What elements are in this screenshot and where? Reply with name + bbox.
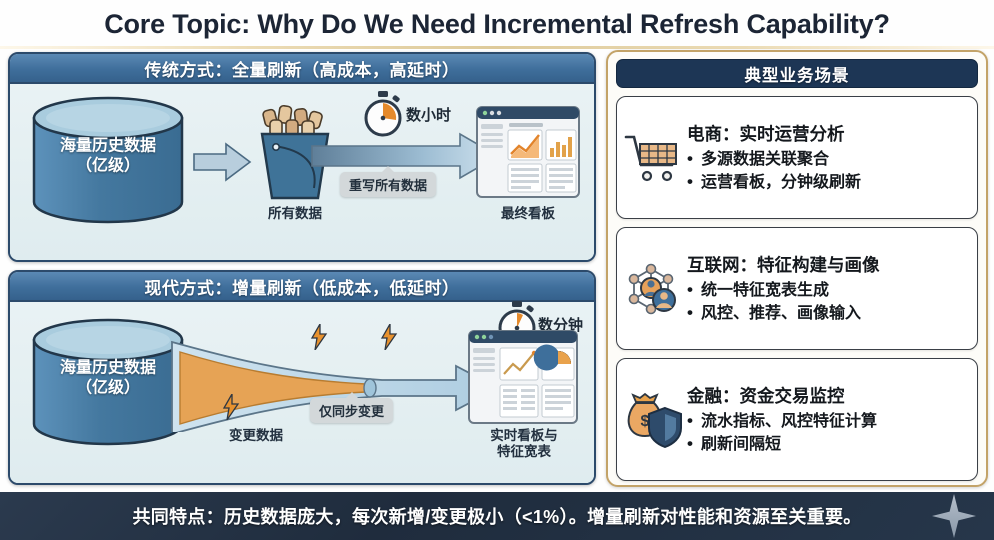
bullet-marker-icon: •: [687, 281, 701, 298]
scene-bullet: • 多源数据关联聚合: [687, 148, 969, 171]
bullet-marker-icon: •: [687, 173, 701, 190]
bucket-caption: 所有数据: [242, 206, 348, 222]
page-title: Core Topic: Why Do We Need Incremental R…: [0, 2, 994, 46]
scene-bullet-text: 风控、推荐、画像输入: [701, 302, 861, 325]
panel-modern-header: 现代方式：增量刷新（低成本，低延时）: [10, 272, 594, 302]
panel-traditional-body: 海量历史数据 （亿级）: [10, 84, 594, 260]
scene-title: 电商：实时运营分析: [687, 121, 969, 146]
scene-bullet-text: 刷新间隔短: [701, 433, 781, 456]
scene-bullet: • 风控、推荐、画像输入: [687, 302, 969, 325]
lightning-bolt-icon: [222, 394, 240, 420]
scene-bullet-text: 多源数据关联聚合: [701, 148, 829, 171]
panel-traditional-header: 传统方式：全量刷新（高成本，高延时）: [10, 54, 594, 84]
network-user-icon: [621, 257, 685, 321]
bullet-marker-icon: •: [687, 435, 701, 452]
bottom-summary-banner: 共同特点：历史数据庞大，每次新增/变更极小（<1%）。增量刷新对性能和资源至关重…: [0, 492, 994, 540]
panel-traditional-approach: 传统方式：全量刷新（高成本，高延时） 海量历史数据 （亿级）: [8, 52, 596, 262]
scene-text-internet: 互联网：特征构建与画像 • 统一特征宽表生成 • 风控、推荐、画像输入: [685, 252, 969, 325]
dashboard-window-icon: [476, 106, 580, 203]
modern-flow-pill: 仅同步变更: [310, 398, 393, 423]
scene-card-internet[interactable]: 互联网：特征构建与画像 • 统一特征宽表生成 • 风控、推荐、画像输入: [616, 227, 978, 350]
scene-text-finance: 金融：资金交易监控 • 流水指标、风控特征计算 • 刷新间隔短: [685, 383, 969, 456]
lightning-bolt-icon: [380, 324, 398, 350]
scene-title: 互联网：特征构建与画像: [687, 252, 969, 277]
title-divider: [0, 46, 994, 49]
bullet-marker-icon: •: [687, 304, 701, 321]
traditional-flow-pill: 重写所有数据: [340, 172, 436, 197]
modern-funnel-caption: 变更数据: [206, 428, 306, 444]
database-cylinder-icon: 海量历史数据 （亿级）: [28, 318, 188, 446]
sidebar-business-scenarios: 典型业务场景 电商：实时运营分析 • 多源: [606, 50, 988, 487]
bullet-marker-icon: •: [687, 150, 701, 167]
right-arrow-icon: [192, 142, 252, 182]
scene-bullet: • 刷新间隔短: [687, 433, 969, 456]
shopping-cart-icon: [621, 126, 685, 190]
scene-card-ecommerce[interactable]: 电商：实时运营分析 • 多源数据关联聚合 • 运营看板，分钟级刷新: [616, 96, 978, 219]
banner-text: 共同特点：历史数据庞大，每次新增/变更极小（<1%）。增量刷新对性能和资源至关重…: [132, 503, 861, 529]
bullet-marker-icon: •: [687, 412, 701, 429]
scene-bullet: • 统一特征宽表生成: [687, 279, 969, 302]
scene-bullet: • 流水指标、风控特征计算: [687, 410, 969, 433]
scene-card-finance[interactable]: $ 金融：资金交易监控 • 流水指标、风控特征计算 • 刷新间隔短: [616, 358, 978, 481]
database-cylinder-icon: 海量历史数据 （亿级）: [28, 96, 188, 224]
sparkle-icon: [932, 494, 976, 538]
lightning-bolt-icon: [310, 324, 328, 350]
traditional-clock-label: 数小时: [406, 104, 451, 125]
traditional-dashboard-caption: 最终看板: [468, 206, 588, 222]
money-bag-shield-icon: $: [621, 388, 685, 452]
scene-bullet-text: 运营看板，分钟级刷新: [701, 171, 861, 194]
scene-title: 金融：资金交易监控: [687, 383, 969, 408]
slide-root: Core Topic: Why Do We Need Incremental R…: [0, 0, 994, 540]
modern-dashboard-caption: 实时看板与 特征宽表: [462, 428, 586, 459]
scene-bullet-text: 流水指标、风控特征计算: [701, 410, 877, 433]
dashboard-window-icon: [468, 330, 578, 429]
scene-bullet-text: 统一特征宽表生成: [701, 279, 829, 302]
scene-bullet: • 运营看板，分钟级刷新: [687, 171, 969, 194]
scene-text-ecommerce: 电商：实时运营分析 • 多源数据关联聚合 • 运营看板，分钟级刷新: [685, 121, 969, 194]
panel-modern-body: 海量历史数据 （亿级）: [10, 302, 594, 483]
panel-modern-approach: 现代方式：增量刷新（低成本，低延时） 海量历史数据 （亿级）: [8, 270, 596, 485]
sidebar-header: 典型业务场景: [616, 59, 978, 88]
